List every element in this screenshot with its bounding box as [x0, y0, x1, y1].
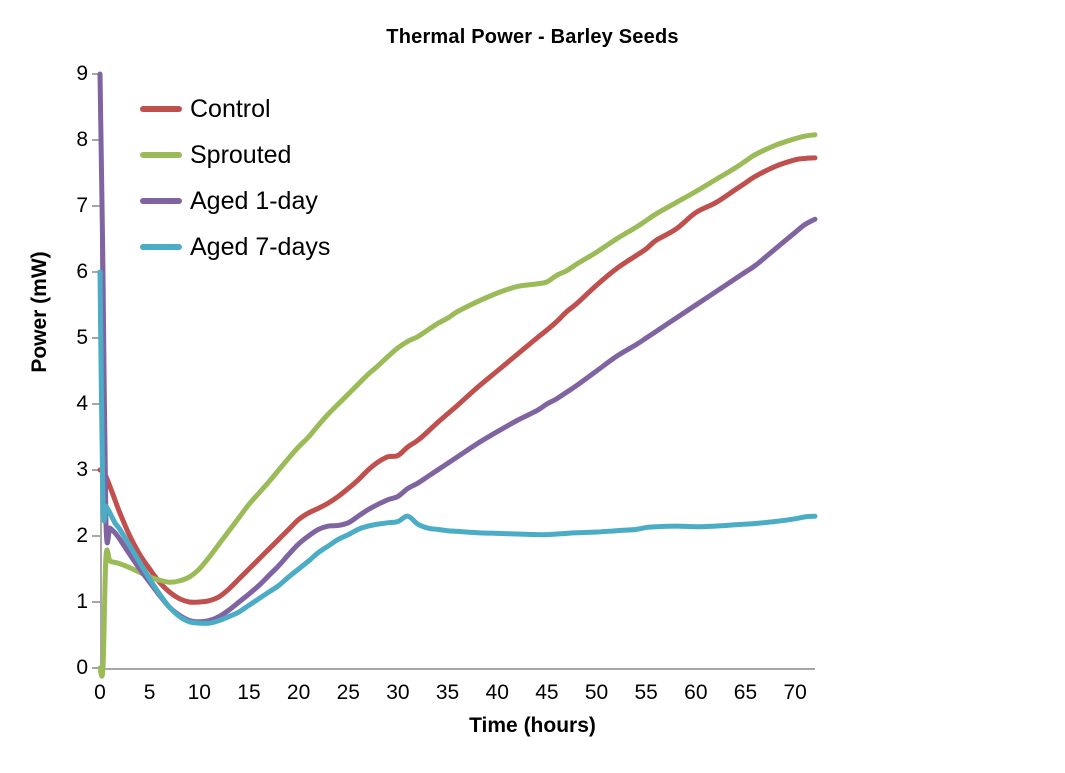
chart-legend: ControlSproutedAged 1-dayAged 7-days	[140, 86, 440, 270]
chart-figure: Thermal Power - Barley Seeds Power (mW) …	[0, 0, 1065, 773]
legend-label: Sprouted	[190, 143, 291, 168]
y-tick-label: 8	[48, 129, 88, 150]
legend-swatch-icon	[140, 152, 182, 158]
chart-title: Thermal Power - Barley Seeds	[0, 26, 1065, 49]
y-tick-mark	[92, 535, 100, 537]
y-tick-label: 1	[48, 591, 88, 612]
y-tick-label: 3	[48, 459, 88, 480]
y-tick-label: 6	[48, 261, 88, 282]
x-tick-label: 70	[765, 682, 825, 703]
y-tick-mark	[92, 205, 100, 207]
legend-swatch-icon	[140, 244, 182, 250]
legend-item[interactable]: Aged 7-days	[140, 224, 440, 270]
series-line-aged-7-days	[100, 272, 815, 623]
legend-item[interactable]: Sprouted	[140, 132, 440, 178]
y-tick-mark	[92, 601, 100, 603]
y-tick-mark	[92, 403, 100, 405]
legend-swatch-icon	[140, 198, 182, 204]
y-tick-label: 9	[48, 63, 88, 84]
y-axis-label: Power (mW)	[28, 202, 52, 422]
y-tick-label: 5	[48, 327, 88, 348]
legend-item[interactable]: Control	[140, 86, 440, 132]
legend-label: Aged 7-days	[190, 235, 330, 260]
legend-swatch-icon	[140, 106, 182, 112]
legend-label: Aged 1-day	[190, 189, 318, 214]
y-tick-label: 0	[48, 657, 88, 678]
x-axis-label: Time (hours)	[0, 714, 1065, 738]
legend-label: Control	[190, 97, 271, 122]
legend-item[interactable]: Aged 1-day	[140, 178, 440, 224]
x-axis-line	[100, 668, 815, 670]
y-tick-label: 4	[48, 393, 88, 414]
y-tick-label: 7	[48, 195, 88, 216]
y-tick-label: 2	[48, 525, 88, 546]
